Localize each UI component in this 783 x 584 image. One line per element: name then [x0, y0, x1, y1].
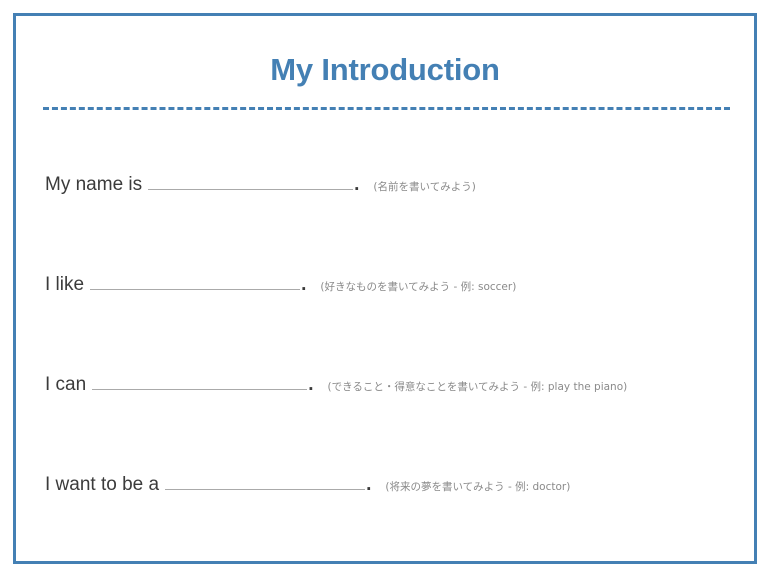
prompt-period-like: . — [301, 272, 306, 298]
answer-blank-name[interactable] — [148, 171, 353, 190]
prompt-label-can: I can — [45, 372, 86, 398]
prompt-hint-can: (できること・得意なことを書いてみよう - 例: play the piano) — [327, 374, 627, 400]
answer-blank-dream[interactable] — [165, 471, 365, 490]
answer-blank-can[interactable] — [92, 371, 307, 390]
prompt-label-like: I like — [45, 272, 84, 298]
prompt-row-dream: I want to be a . (将来の夢を書いてみよう - 例: docto… — [45, 471, 570, 497]
answer-blank-like[interactable] — [90, 271, 300, 290]
prompt-row-like: I like . (好きなものを書いてみよう - 例: soccer) — [45, 271, 516, 297]
prompt-hint-dream: (将来の夢を書いてみよう - 例: doctor) — [385, 474, 570, 500]
prompt-row-name: My name is . (名前を書いてみよう) — [45, 171, 476, 197]
prompt-period-dream: . — [366, 472, 371, 498]
prompt-row-can: I can . (できること・得意なことを書いてみよう - 例: play th… — [45, 371, 627, 397]
prompt-period-can: . — [308, 372, 313, 398]
prompt-hint-name: (名前を書いてみよう) — [373, 174, 475, 200]
prompt-hint-like: (好きなものを書いてみよう - 例: soccer) — [320, 274, 516, 300]
prompt-list: My name is . (名前を書いてみよう) I like . (好きなもの… — [16, 16, 754, 561]
prompt-label-name: My name is — [45, 172, 142, 198]
worksheet-page: My Introduction My name is . (名前を書いてみよう)… — [13, 13, 757, 564]
prompt-period-name: . — [354, 172, 359, 198]
prompt-label-dream: I want to be a — [45, 472, 159, 498]
